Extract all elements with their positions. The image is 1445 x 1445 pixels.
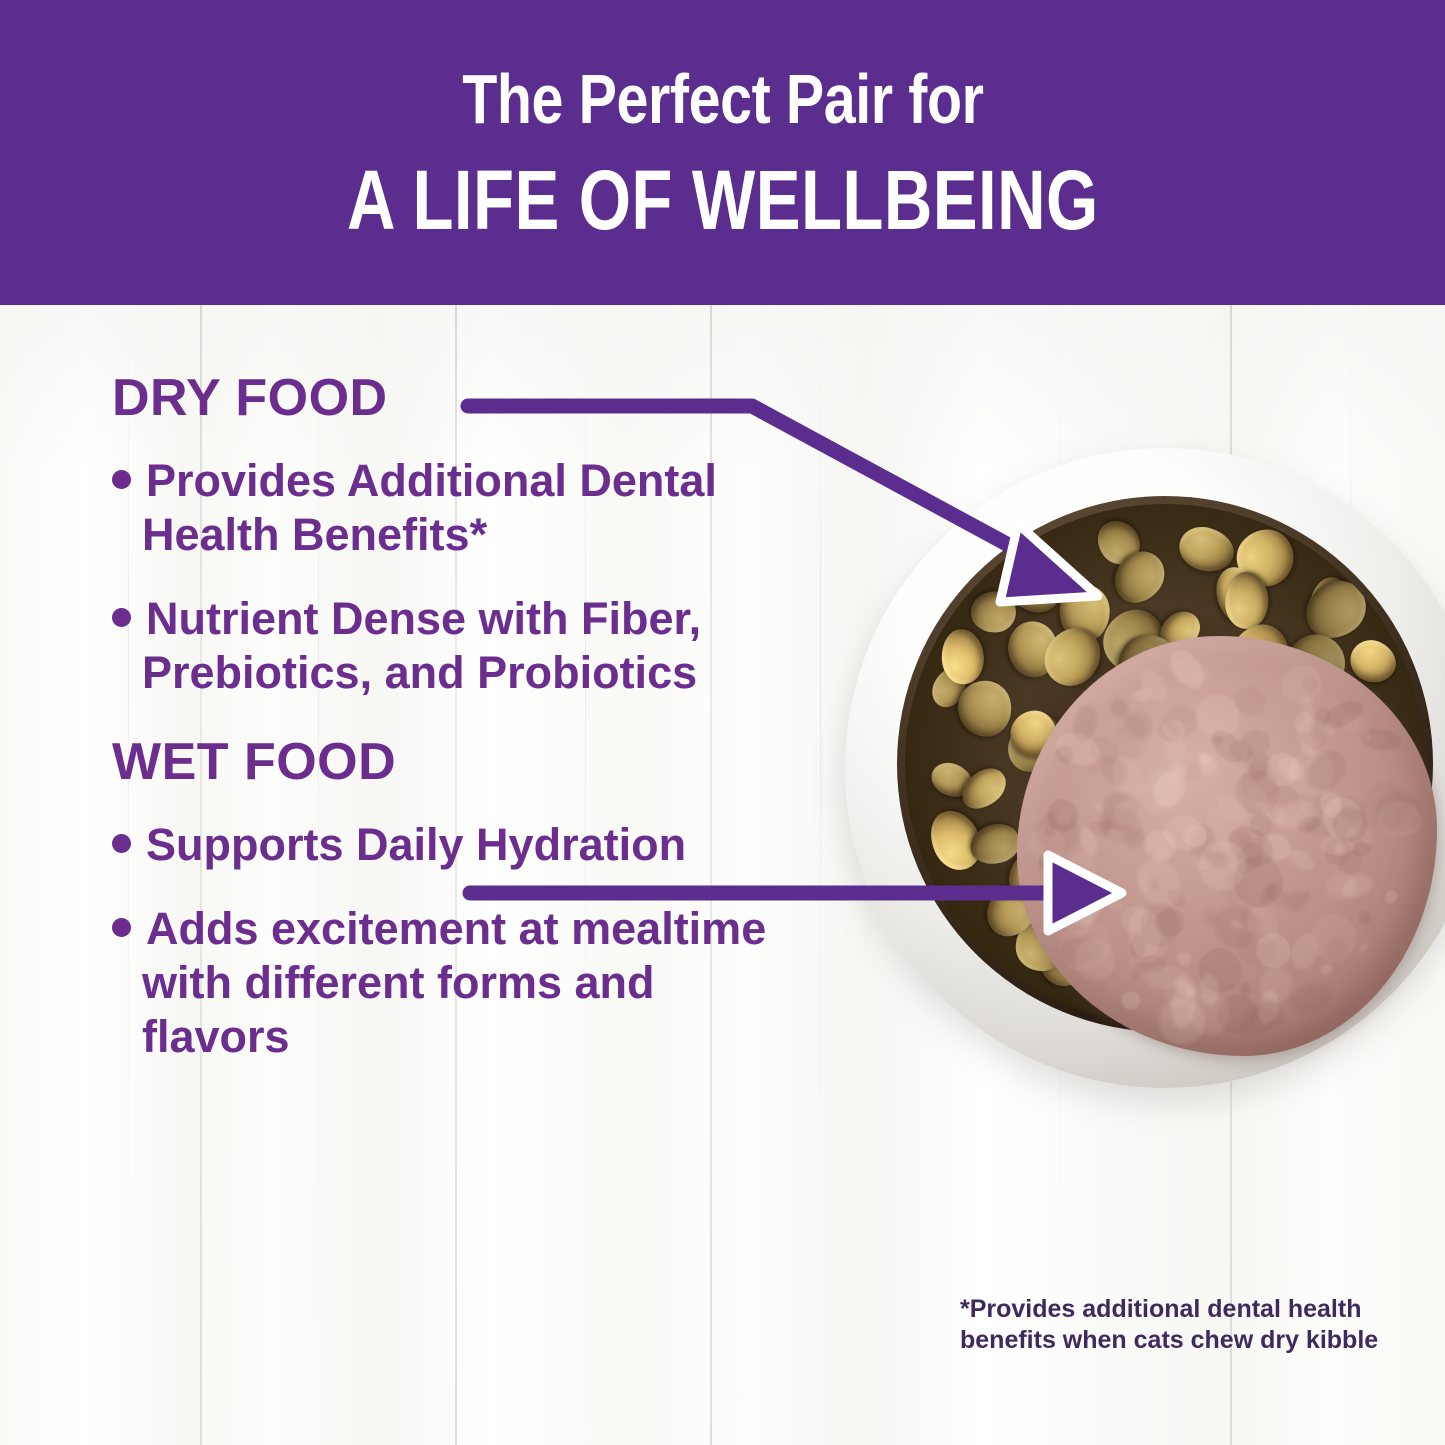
bullet-dot bbox=[112, 470, 131, 489]
list-item: Nutrient Dense with Fiber, Prebiotics, a… bbox=[112, 592, 812, 700]
wet-food-section: WET FOOD Supports Daily Hydration Adds e… bbox=[112, 736, 812, 1064]
pate-texture bbox=[1356, 909, 1374, 928]
footnote: *Provides additional dental health benef… bbox=[960, 1294, 1390, 1355]
bullet-dot bbox=[112, 834, 131, 853]
wet-pate bbox=[1017, 636, 1437, 1056]
bullet-text: Adds excitement at mealtime with differe… bbox=[142, 903, 766, 1062]
pate-texture bbox=[1139, 956, 1166, 973]
pate-texture bbox=[1318, 962, 1334, 978]
dry-food-section: DRY FOOD Provides Additional Dental Heal… bbox=[112, 372, 812, 700]
pate-texture bbox=[1121, 991, 1140, 1009]
footnote-line-1: *Provides additional dental health bbox=[960, 1294, 1390, 1325]
wet-food-bullets: Supports Daily Hydration Adds excitement… bbox=[112, 818, 812, 1064]
list-item: Adds excitement at mealtime with differe… bbox=[112, 902, 812, 1064]
pate-texture bbox=[1167, 658, 1213, 686]
food-bowl-photo bbox=[845, 448, 1445, 1278]
bullet-dot bbox=[112, 918, 131, 937]
header-banner: The Perfect Pair for A LIFE OF WELLBEING bbox=[0, 0, 1445, 305]
kibble-piece bbox=[971, 592, 1016, 633]
pate-texture bbox=[1358, 943, 1369, 955]
benefits-copy: DRY FOOD Provides Additional Dental Heal… bbox=[112, 372, 812, 1094]
list-item: Provides Additional Dental Health Benefi… bbox=[112, 454, 812, 562]
dry-food-heading: DRY FOOD bbox=[112, 372, 812, 424]
footnote-line-2: benefits when cats chew dry kibble bbox=[960, 1325, 1390, 1356]
wet-food-heading: WET FOOD bbox=[112, 736, 812, 788]
pate-texture bbox=[1383, 888, 1399, 905]
banner-headline-secondary: A LIFE OF WELLBEING bbox=[347, 158, 1099, 242]
dry-food-bullets: Provides Additional Dental Health Benefi… bbox=[112, 454, 812, 700]
list-item: Supports Daily Hydration bbox=[112, 818, 812, 872]
banner-headline-primary: The Perfect Pair for bbox=[462, 64, 983, 134]
pate-texture bbox=[1124, 828, 1146, 849]
bullet-text: Nutrient Dense with Fiber, Prebiotics, a… bbox=[142, 593, 701, 698]
pate-texture bbox=[1175, 949, 1195, 969]
pate-texture bbox=[1052, 727, 1105, 772]
promo-graphic: The Perfect Pair for A LIFE OF WELLBEING… bbox=[0, 0, 1445, 1445]
bullet-text: Provides Additional Dental Health Benefi… bbox=[142, 455, 717, 560]
bullet-text: Supports Daily Hydration bbox=[146, 819, 686, 870]
pate-texture bbox=[1103, 888, 1123, 912]
bullet-dot bbox=[112, 608, 131, 627]
